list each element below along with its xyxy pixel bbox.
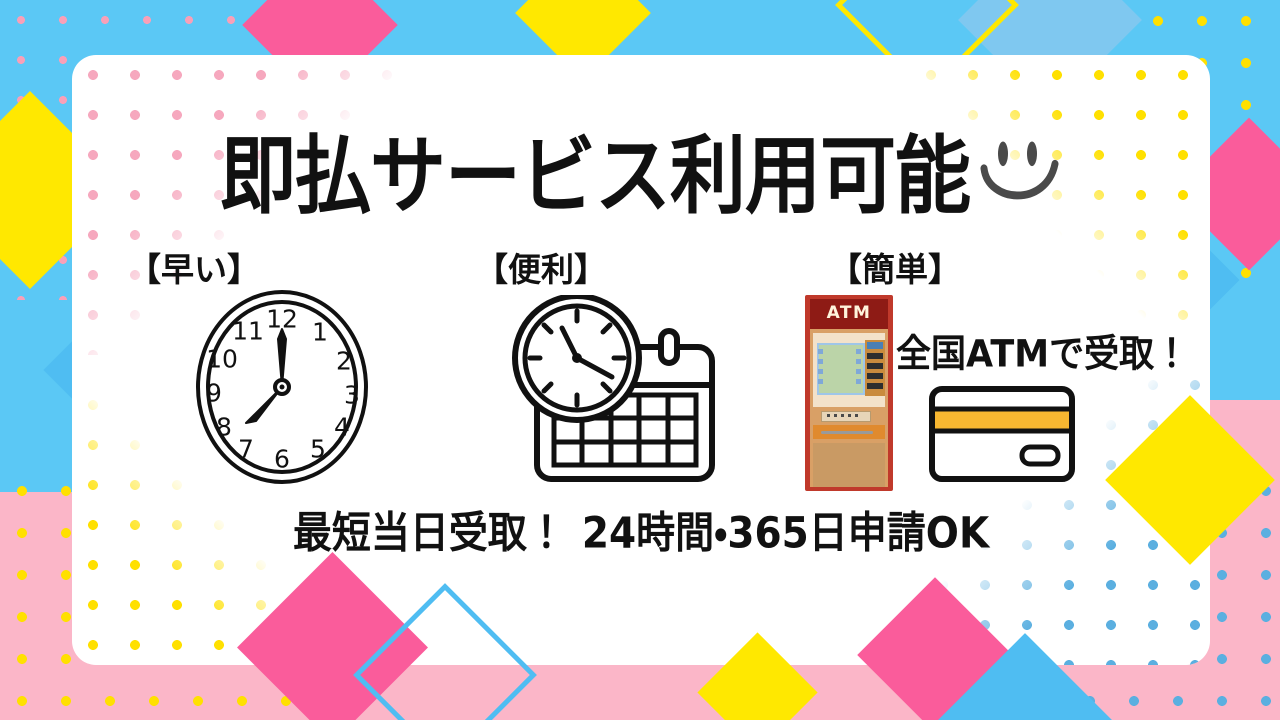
headline-text: 即払サービス利用可能 <box>220 126 970 226</box>
footer-left-text: 最短当日受取！ <box>293 509 566 559</box>
feature-label-fast: 【早い】 <box>128 250 260 290</box>
footer-right-text: 24時間・365日申請OK <box>582 509 989 559</box>
svg-text:3: 3 <box>344 381 360 410</box>
svg-text:10: 10 <box>206 345 238 374</box>
content-card: 即払サービス利用可能 【早い】 【便利】 【簡単】 <box>72 55 1210 665</box>
atm-machine-icon: ATM <box>805 295 893 491</box>
wall-clock-icon: 12 1 2 3 4 5 6 7 8 9 10 11 <box>194 287 370 487</box>
svg-text:7: 7 <box>238 435 254 464</box>
svg-text:6: 6 <box>274 445 290 474</box>
svg-text:4: 4 <box>334 413 350 442</box>
promo-banner: 即払サービス利用可能 【早い】 【便利】 【簡単】 <box>0 0 1280 720</box>
svg-text:8: 8 <box>216 413 232 442</box>
card-content: 即払サービス利用可能 【早い】 【便利】 【簡単】 <box>72 55 1210 665</box>
feature-label-easy: 【簡単】 <box>829 250 961 290</box>
page-title: 即払サービス利用可能 <box>72 128 1210 224</box>
credit-card-icon <box>928 385 1076 483</box>
footer-tagline: 最短当日受取！24時間・365日申請OK <box>72 507 1210 562</box>
feature-label-convenient: 【便利】 <box>475 250 607 290</box>
svg-text:9: 9 <box>206 379 222 408</box>
svg-text:11: 11 <box>232 317 264 346</box>
calendar-clock-icon <box>509 295 724 493</box>
svg-text:1: 1 <box>312 318 328 347</box>
svg-text:5: 5 <box>310 435 326 464</box>
atm-machine-label: ATM <box>810 302 888 326</box>
smiley-face-icon <box>976 138 1062 212</box>
atm-caption: 全国ATMで受取！ <box>896 332 1189 377</box>
svg-text:2: 2 <box>336 347 352 376</box>
